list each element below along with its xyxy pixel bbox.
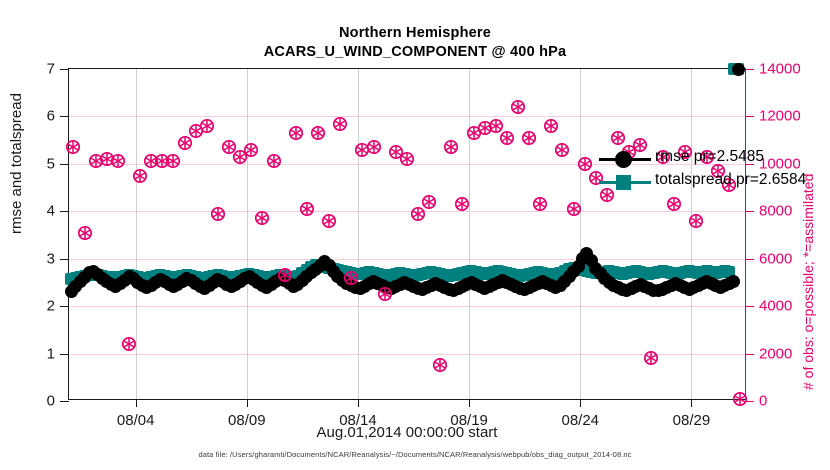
obs-count-marker-icon — [121, 336, 137, 352]
obs-count-marker-icon — [243, 142, 259, 158]
obs-count-marker-icon — [199, 118, 215, 134]
obs-count-marker-icon — [377, 286, 393, 302]
obs-count-marker-icon — [65, 139, 81, 155]
x-tick — [136, 399, 137, 407]
obs-count-marker-icon — [132, 168, 148, 184]
y-tick-right — [745, 259, 754, 260]
obs-count-marker-icon — [366, 139, 382, 155]
obs-count-marker-icon — [443, 139, 459, 155]
x-axis-label: Aug.01,2014 00:00:00 start — [68, 424, 746, 441]
obs-count-marker-icon — [343, 270, 359, 286]
obs-count-marker-icon — [554, 142, 570, 158]
x-tick-label: 08/04 — [117, 412, 155, 429]
x-tick-label: 08/14 — [339, 412, 377, 429]
y-axis-left-label: rmse and totalspread — [8, 93, 25, 234]
legend-item-totalspread: totalspread pr=2.6584 — [599, 170, 813, 193]
obs-count-marker-icon — [532, 196, 548, 212]
x-tick-label: 08/24 — [561, 412, 599, 429]
y-tick-right — [745, 306, 754, 307]
obs-count-marker-icon — [332, 116, 348, 132]
chart-title-line1: Northern Hemisphere — [0, 24, 830, 43]
y-tick-label-right: 12000 — [759, 108, 801, 125]
obs-count-marker-icon — [732, 391, 748, 407]
chart-screenshot: Northern Hemisphere ACARS_U_WIND_COMPONE… — [0, 0, 830, 470]
obs-count-marker-icon — [299, 201, 315, 217]
data-points — [69, 69, 745, 399]
y-tick-label-right: 6000 — [759, 250, 792, 267]
y-tick-left — [60, 354, 69, 355]
obs-count-marker-icon — [321, 213, 337, 229]
obs-count-marker-icon — [77, 225, 93, 241]
obs-count-marker-icon — [254, 210, 270, 226]
legend-item-rmse: rmse pr=2.5485 — [599, 147, 813, 170]
obs-count-marker-icon — [432, 357, 448, 373]
obs-count-marker-icon — [210, 206, 226, 222]
y-tick-left — [60, 211, 69, 212]
y-tick-left — [60, 116, 69, 117]
x-tick — [358, 399, 359, 407]
x-tick — [469, 399, 470, 407]
obs-count-marker-icon — [543, 118, 559, 134]
y-tick-label-left: 0 — [47, 393, 55, 410]
y-tick-label-left: 4 — [47, 203, 55, 220]
y-tick-left — [60, 164, 69, 165]
obs-count-marker-icon — [521, 130, 537, 146]
obs-count-marker-icon — [310, 125, 326, 141]
obs-count-marker-icon — [510, 99, 526, 115]
legend-label-totalspread: totalspread pr=2.6584 — [655, 171, 806, 189]
legend-label-rmse: rmse pr=2.5485 — [655, 148, 764, 166]
y-tick-label-right: 14000 — [759, 61, 801, 78]
rmse-point — [732, 63, 745, 76]
y-tick-label-left: 3 — [47, 250, 55, 267]
obs-count-marker-icon — [266, 153, 282, 169]
obs-count-marker-icon — [666, 196, 682, 212]
y-tick-left — [60, 306, 69, 307]
y-tick-right — [745, 116, 754, 117]
y-tick-label-right: 8000 — [759, 203, 792, 220]
y-axis-right-label: # of obs: o=possible; *=assimilated — [800, 174, 816, 390]
obs-count-marker-icon — [277, 267, 293, 283]
y-tick-right — [745, 211, 754, 212]
chart-title-line2: ACARS_U_WIND_COMPONENT @ 400 hPa — [0, 43, 830, 62]
y-tick-label-right: 2000 — [759, 345, 792, 362]
plot-area: 0012000240003600048000510000612000714000… — [68, 68, 746, 400]
x-tick — [580, 399, 581, 407]
data-file-footer: data file: /Users/gharamti/Documents/NCA… — [0, 450, 830, 459]
y-tick-label-left: 5 — [47, 155, 55, 172]
x-tick-label: 08/29 — [673, 412, 711, 429]
x-tick — [691, 399, 692, 407]
y-tick-right — [745, 69, 754, 70]
obs-count-marker-icon — [454, 196, 470, 212]
obs-count-marker-icon — [421, 194, 437, 210]
filled-circle-icon — [615, 151, 632, 168]
y-tick-label-left: 2 — [47, 298, 55, 315]
obs-count-marker-icon — [566, 201, 582, 217]
obs-count-marker-icon — [110, 153, 126, 169]
y-tick-label-right: 0 — [759, 393, 767, 410]
y-tick-left — [60, 259, 69, 260]
chart-legend: rmse pr=2.5485 totalspread pr=2.6584 — [599, 147, 813, 193]
y-tick-label-left: 1 — [47, 345, 55, 362]
y-tick-left — [60, 69, 69, 70]
x-tick — [247, 399, 248, 407]
chart-title: Northern Hemisphere ACARS_U_WIND_COMPONE… — [0, 24, 830, 62]
x-tick-label: 08/09 — [228, 412, 266, 429]
obs-count-marker-icon — [643, 350, 659, 366]
obs-count-marker-icon — [399, 151, 415, 167]
obs-count-marker-icon — [499, 130, 515, 146]
filled-square-icon — [616, 175, 631, 190]
y-tick-left — [60, 401, 69, 402]
obs-count-marker-icon — [688, 213, 704, 229]
rmse-point — [727, 275, 740, 288]
y-tick-right — [745, 354, 754, 355]
x-tick-label: 08/19 — [450, 412, 488, 429]
obs-count-marker-icon — [288, 125, 304, 141]
y-tick-label-right: 4000 — [759, 298, 792, 315]
y-tick-label-left: 6 — [47, 108, 55, 125]
obs-count-marker-icon — [165, 153, 181, 169]
y-tick-label-left: 7 — [47, 61, 55, 78]
